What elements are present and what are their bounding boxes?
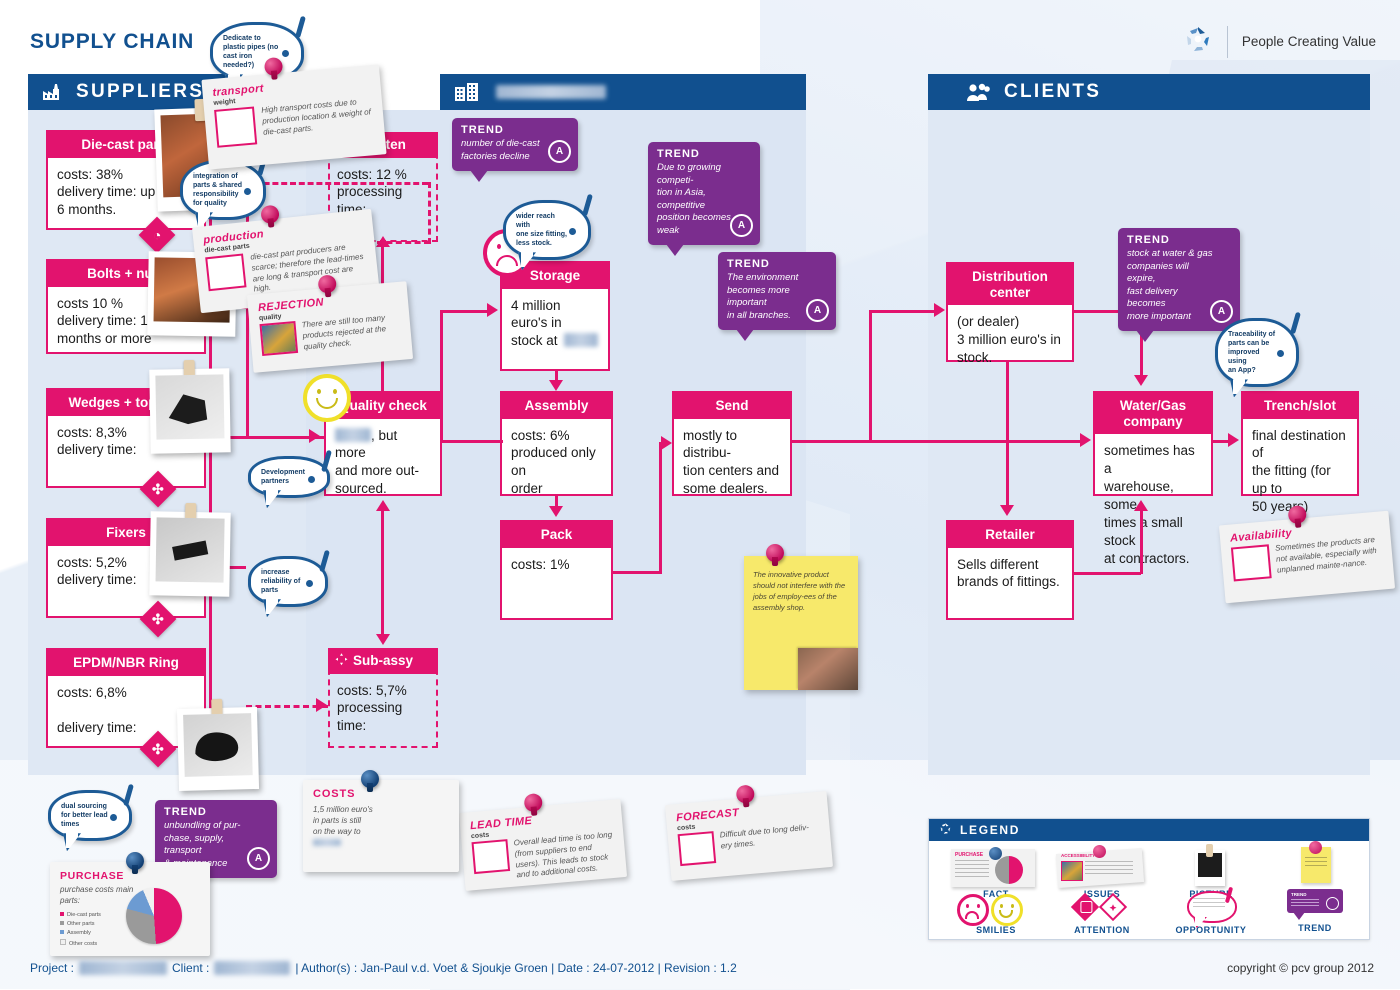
redacted-company-token bbox=[564, 333, 598, 347]
header-suppliers-label: SUPPLIERS bbox=[76, 81, 204, 103]
recycle-swirl-icon bbox=[1183, 24, 1213, 59]
client-box-title: Retailer bbox=[948, 522, 1072, 548]
client-box-body: (or dealer) 3 million euro's in stock. bbox=[948, 305, 1072, 375]
process-box-title-text: Sub-assy bbox=[353, 653, 413, 668]
buildings-icon bbox=[454, 82, 480, 102]
process-box-title: Pack bbox=[502, 522, 611, 548]
connector-send-up bbox=[869, 310, 872, 442]
polaroid-wedge bbox=[149, 368, 230, 453]
issue-card-lead-time: LEAD TIME costs Overall lead time is too… bbox=[459, 799, 627, 891]
client-box-title: Distribution center bbox=[948, 264, 1072, 305]
arrow-up-to-quality bbox=[376, 500, 390, 511]
polaroid-fixer bbox=[149, 511, 230, 596]
pie-legend-label: Other parts bbox=[67, 921, 95, 927]
trend-label: TREND bbox=[657, 148, 751, 160]
bubble-wider-reach: wider reach with one size fitting, less … bbox=[503, 200, 591, 260]
fact-card-title: PURCHASE bbox=[60, 870, 200, 882]
client-box-body: Sells different brands of fittings. bbox=[948, 548, 1072, 600]
trend-badge-icon: A bbox=[548, 140, 571, 163]
arrow-into-retailer bbox=[1000, 505, 1014, 516]
issue-card-forecast: FORECAST costs Difficult due to long del… bbox=[665, 791, 833, 881]
issue-card-thumb-placeholder bbox=[678, 831, 717, 866]
process-box-body: costs: 6% produced only on order bbox=[502, 419, 611, 507]
client-box-water-gas-company[interactable]: Water/Gas company sometimes has a wareho… bbox=[1093, 391, 1213, 496]
connector-quality-subassy bbox=[381, 508, 384, 636]
pie-legend-swatch bbox=[60, 921, 64, 925]
legend-caption: TREND bbox=[1265, 923, 1365, 933]
fact-card-purchase: PURCHASE purchase costs main parts: Die-… bbox=[50, 862, 210, 956]
arrow-into-pack bbox=[549, 506, 563, 517]
pushpin-icon bbox=[1288, 505, 1308, 525]
arrow-into-quality-check bbox=[309, 429, 320, 443]
people-group-icon bbox=[966, 83, 992, 102]
brand-divider bbox=[1227, 26, 1228, 58]
header-manufacturer-label-redacted bbox=[496, 85, 606, 99]
fact-card-title: COSTS bbox=[313, 788, 449, 800]
issue-card-thumb-placeholder bbox=[205, 253, 246, 291]
pie-legend-swatch bbox=[60, 912, 64, 916]
client-box-distribution-center[interactable]: Distribution center (or dealer) 3 millio… bbox=[946, 262, 1074, 362]
trend-callout-die-cast-factories: TREND number of die-cast factories decli… bbox=[452, 118, 578, 171]
footer-copyright: copyright © pcv group 2012 bbox=[1227, 961, 1374, 975]
purchase-pie-chart bbox=[126, 888, 182, 944]
footer-client-redacted bbox=[214, 961, 290, 975]
legend-item-fact: PURCHASE FACT bbox=[941, 847, 1051, 899]
pushpin-blue-icon bbox=[361, 770, 379, 788]
process-box-send[interactable]: Send mostly to distribu- tion centers an… bbox=[672, 391, 792, 496]
header-manufacturer bbox=[440, 74, 806, 110]
redacted-company-token bbox=[335, 428, 371, 442]
legend-header: LEGEND bbox=[929, 819, 1369, 841]
header-clients: CLIENTS bbox=[928, 74, 1370, 110]
client-box-title: Trench/slot bbox=[1243, 393, 1357, 419]
photo-epdm-ring bbox=[183, 713, 253, 777]
bubble-dot bbox=[569, 228, 576, 235]
arrow-into-send bbox=[661, 436, 672, 450]
polaroid-epdm-ring bbox=[177, 707, 259, 791]
page-title: SUPPLY CHAIN bbox=[30, 30, 194, 54]
legend-item-attention: ATTENTION bbox=[1047, 893, 1157, 935]
trend-label: TREND bbox=[1127, 234, 1231, 246]
trend-label: TREND bbox=[727, 258, 827, 270]
trend-label: TREND bbox=[164, 806, 268, 818]
process-box-storage[interactable]: Storage 4 million euro's in stock at bbox=[500, 261, 610, 371]
bubble-dot bbox=[308, 476, 315, 483]
pushpin-blue-icon bbox=[126, 852, 144, 870]
footer-project-label: Project : bbox=[30, 961, 74, 975]
legend-body: PURCHASE FACT ACCESSIBILITY ISSUES bbox=[929, 841, 1369, 941]
issue-card-icon: ACCESSIBILITY bbox=[1047, 847, 1157, 889]
legend-item-trend: TREND TREND bbox=[1265, 887, 1365, 933]
connector-dashed-coaten-down bbox=[428, 182, 431, 244]
pushpin-icon bbox=[766, 544, 784, 562]
footer-project-redacted bbox=[79, 961, 167, 975]
pushpin-icon bbox=[264, 57, 284, 77]
fact-card-text: 1,5 million euro's in parts is still on … bbox=[313, 805, 449, 837]
arrow-up-to-coaten bbox=[376, 236, 390, 247]
pushpin-icon bbox=[524, 793, 544, 813]
connector-dashed-to-coaten bbox=[246, 182, 428, 185]
postit-icon bbox=[1265, 843, 1365, 889]
process-box-assembly[interactable]: Assembly costs: 6% produced only on orde… bbox=[500, 391, 613, 496]
smiley-eye-left bbox=[317, 389, 321, 394]
footer-rest: | Author(s) : Jan-Paul v.d. Voet & Sjouk… bbox=[295, 961, 736, 975]
client-box-retailer[interactable]: Retailer Sells different brands of fitti… bbox=[946, 520, 1074, 620]
pie-legend-swatch bbox=[60, 930, 64, 934]
arrow-down-to-subassy bbox=[376, 634, 390, 645]
pie-legend-item: Other costs bbox=[60, 939, 200, 949]
trend-callout-icon: TREND bbox=[1265, 887, 1365, 923]
pie-legend-label: Die-cast parts bbox=[67, 912, 101, 918]
connector-to-storage bbox=[440, 310, 488, 313]
footer-metadata: Project : Client : | Author(s) : Jan-Pau… bbox=[30, 961, 737, 975]
trend-badge-icon: A bbox=[247, 847, 270, 870]
diamond-icon bbox=[1047, 893, 1157, 925]
connector-quality-up bbox=[440, 310, 443, 442]
header-clients-label: CLIENTS bbox=[1004, 81, 1101, 103]
fact-card-icon: PURCHASE bbox=[941, 847, 1051, 889]
bubble-development-partners: Development partners bbox=[248, 456, 330, 498]
photo-wedge bbox=[155, 374, 224, 439]
issue-card-thumb-placeholder bbox=[471, 839, 510, 874]
issue-card-text: High transport costs due to production l… bbox=[261, 96, 375, 144]
postit-photo bbox=[798, 648, 858, 690]
pie-legend-label: Assembly bbox=[67, 930, 91, 936]
attention-icon bbox=[334, 651, 349, 670]
brand-lockup: People Creating Value bbox=[1183, 24, 1376, 59]
factory-icon bbox=[42, 83, 64, 101]
smiley-mouth bbox=[496, 255, 518, 266]
connector-retailer-right bbox=[1073, 572, 1141, 575]
issue-card-transport: transport weight High transport costs du… bbox=[201, 64, 386, 169]
issue-card-rejection: REJECTION quality There are still too ma… bbox=[247, 281, 413, 373]
trend-badge-icon: A bbox=[806, 299, 829, 322]
legend-caption: SMILIES bbox=[941, 925, 1051, 935]
bubble-integration-parts: integration of parts & shared responsibi… bbox=[180, 160, 266, 220]
smiley-eye-left bbox=[497, 244, 501, 249]
process-box-body-text: 4 million euro's in stock at bbox=[511, 298, 562, 349]
bubble-dot bbox=[282, 50, 289, 57]
legend-item-issues: ACCESSIBILITY ISSUES bbox=[1047, 847, 1157, 899]
legend-title: LEGEND bbox=[960, 823, 1020, 837]
photo-fixer bbox=[156, 517, 225, 582]
connector-to-distribution bbox=[869, 310, 937, 313]
legend-caption: OPPORTUNITY bbox=[1159, 925, 1263, 935]
process-box-body: mostly to distribu- tion centers and som… bbox=[674, 419, 790, 507]
smiley-icon bbox=[941, 893, 1051, 925]
issue-card-thumb-photo bbox=[259, 321, 298, 356]
connector-retailer-up bbox=[1140, 508, 1143, 574]
process-box-pack[interactable]: Pack costs: 1% bbox=[500, 520, 613, 620]
bubble-dual-sourcing: dual sourcing for better lead times bbox=[48, 790, 132, 841]
connector-send-right bbox=[791, 440, 1081, 443]
arrow-into-water-gas bbox=[1080, 433, 1091, 447]
trend-callout-stock-expiry: TREND stock at water & gas companies wil… bbox=[1118, 228, 1240, 331]
process-box-title: Send bbox=[674, 393, 790, 419]
process-box-sub-assy[interactable]: Sub-assy costs: 5,7% processing time: bbox=[328, 648, 438, 743]
issue-card-text: Difficult due to long deliv-ery times. bbox=[719, 822, 821, 863]
bubble-dot bbox=[244, 188, 251, 195]
client-box-body: sometimes has a warehouse, some- times a… bbox=[1095, 434, 1211, 576]
trend-callout-asia-competition: TREND Due to growing competi- tion in As… bbox=[648, 142, 760, 245]
legend-caption: ATTENTION bbox=[1047, 925, 1157, 935]
arrow-into-assembly bbox=[549, 380, 563, 391]
trend-label: TREND bbox=[461, 124, 569, 136]
arrow-down-into-water-gas bbox=[1134, 375, 1148, 386]
arrow-up-into-water-gas bbox=[1134, 500, 1148, 511]
connector-pack-right bbox=[612, 571, 662, 574]
issue-card-availability: Availability Sometimes the products are … bbox=[1219, 511, 1395, 604]
brand-tagline: People Creating Value bbox=[1242, 34, 1376, 49]
bubble-dot bbox=[306, 580, 313, 587]
issue-card-thumb-placeholder bbox=[214, 106, 257, 147]
pushpin-icon bbox=[317, 274, 337, 294]
polaroid-icon bbox=[1159, 847, 1263, 889]
process-box-body: , but more and more out- sourced. bbox=[326, 419, 440, 507]
trend-callout-environment: TREND The environment becomes more impor… bbox=[718, 252, 836, 330]
process-box-body: costs: 5,7% processing time: bbox=[328, 674, 438, 744]
supplier-box-title: EPDM/NBR Ring bbox=[48, 650, 204, 676]
smiley-eye-right bbox=[333, 389, 337, 394]
pie-legend-swatch bbox=[60, 939, 66, 945]
diamond-glyph: ◔ bbox=[153, 228, 161, 242]
issue-card-text: Overall lead time is too long (from supp… bbox=[513, 830, 616, 882]
diamond-glyph: ✣ bbox=[152, 742, 164, 756]
postit-text: The innovative product should not interf… bbox=[753, 570, 849, 614]
process-box-body: 4 million euro's in stock at bbox=[502, 289, 608, 359]
bubble-dot bbox=[110, 814, 117, 821]
footer-client-label: Client : bbox=[172, 961, 209, 975]
connector-distribution-retailer bbox=[1006, 361, 1009, 507]
issue-card-thumb-placeholder bbox=[1231, 544, 1272, 581]
recycle-swirl-icon bbox=[939, 822, 952, 838]
diamond-glyph: ✣ bbox=[152, 482, 164, 496]
smiley-mouth bbox=[316, 398, 338, 409]
pushpin-icon bbox=[736, 784, 756, 804]
opportunity-bubble-icon bbox=[1159, 889, 1263, 925]
legend-item-opportunity: OPPORTUNITY bbox=[1159, 889, 1263, 935]
smiley-happy-icon bbox=[303, 374, 351, 422]
legend-item-smilies: SMILIES bbox=[941, 893, 1051, 935]
diamond-glyph: ✣ bbox=[152, 612, 164, 626]
redacted-company-token bbox=[313, 839, 341, 846]
postit-note-assembly-jobs: The innovative product should not interf… bbox=[744, 556, 858, 690]
process-box-body: costs: 1% bbox=[502, 548, 611, 582]
legend-panel: LEGEND PURCHASE FACT ACCESSIBILITY ISSUE… bbox=[928, 818, 1370, 940]
bubble-increase-reliability: increase reliability of parts bbox=[248, 556, 328, 607]
arrow-into-trench bbox=[1228, 433, 1239, 447]
issue-card-text: Sometimes the products are not available… bbox=[1275, 535, 1384, 578]
arrow-into-subassy bbox=[316, 698, 327, 712]
fact-card-costs: COSTS 1,5 million euro's in parts is sti… bbox=[303, 780, 459, 872]
arrow-into-storage bbox=[487, 303, 498, 317]
issue-card-text: There are still too many products reject… bbox=[301, 312, 401, 353]
pie-legend-label: Other costs bbox=[69, 941, 97, 947]
bubble-traceability-app: Traceability of parts can be improved us… bbox=[1215, 318, 1299, 387]
arrow-into-distribution bbox=[934, 303, 945, 317]
connector-pack-up bbox=[659, 442, 662, 574]
process-box-title: Sub-assy bbox=[328, 648, 438, 674]
connector-quality-right bbox=[441, 440, 503, 443]
fact-card-subtitle: purchase costs main parts: bbox=[60, 885, 138, 907]
client-box-title: Water/Gas company bbox=[1095, 393, 1211, 434]
client-box-trench-slot[interactable]: Trench/slot final destination of the fit… bbox=[1241, 391, 1359, 496]
process-box-title: Assembly bbox=[502, 393, 611, 419]
